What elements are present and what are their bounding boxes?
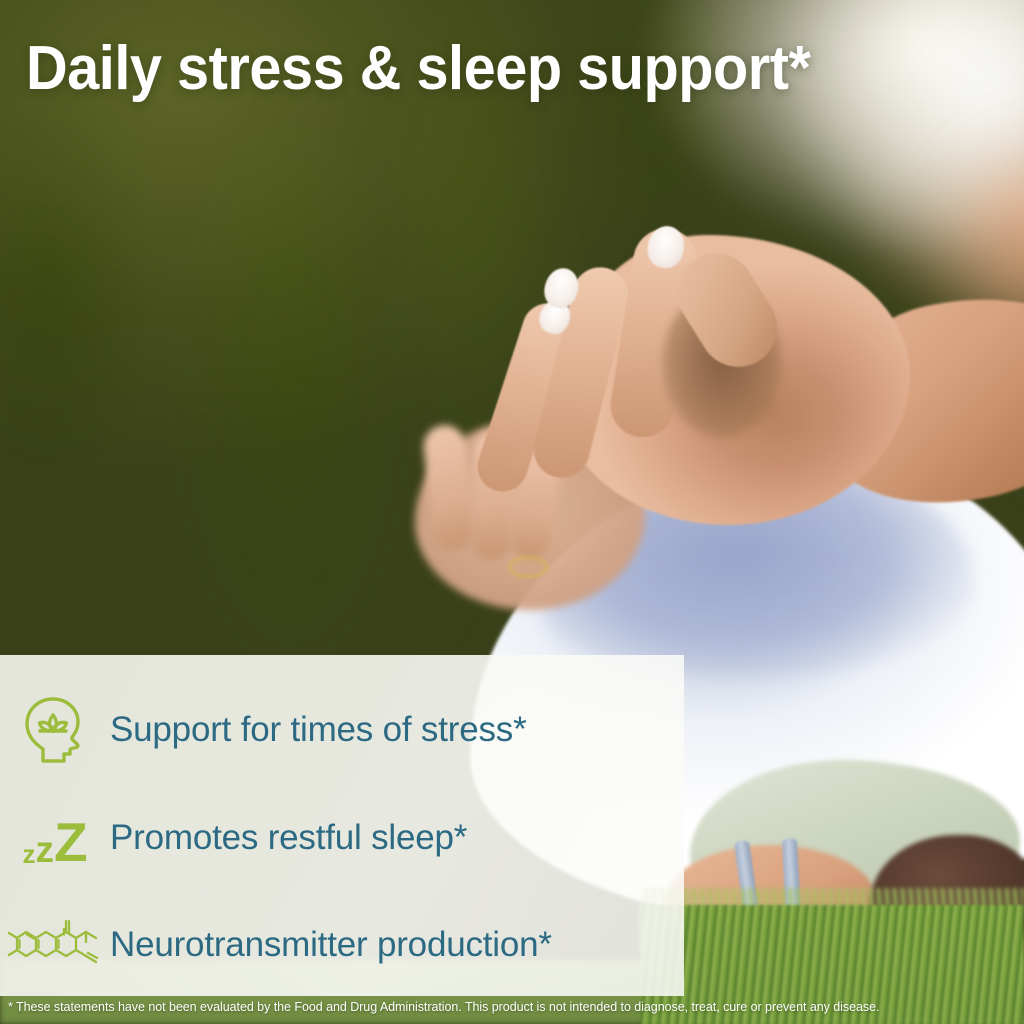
zzz-large-letter: Z — [54, 819, 88, 866]
page-title: Daily stress & sleep support* — [26, 38, 810, 100]
feature-row-neurotransmitter: Neurotransmitter production* — [0, 890, 684, 1000]
feature-panel: Support for times of stress* z z Z Promo… — [0, 655, 684, 996]
feature-row-stress: Support for times of stress* — [0, 675, 684, 785]
feature-row-sleep: z z Z Promotes restful sleep* — [0, 783, 684, 893]
finger-ring — [508, 556, 548, 578]
feature-label-neurotransmitter: Neurotransmitter production* — [110, 925, 552, 965]
head-lotus-icon — [0, 691, 110, 769]
sleep-zzz-icon: z z Z — [0, 815, 110, 862]
zzz-small-letter: z — [22, 843, 35, 865]
feature-label-stress: Support for times of stress* — [110, 710, 527, 750]
fda-disclaimer: * These statements have not been evaluat… — [8, 1000, 1018, 1014]
feature-label-sleep: Promotes restful sleep* — [110, 818, 467, 858]
product-banner: Daily stress & sleep support* Support fo… — [0, 0, 1024, 1024]
zzz-medium-letter: z — [35, 834, 54, 865]
molecule-icon — [0, 916, 110, 974]
